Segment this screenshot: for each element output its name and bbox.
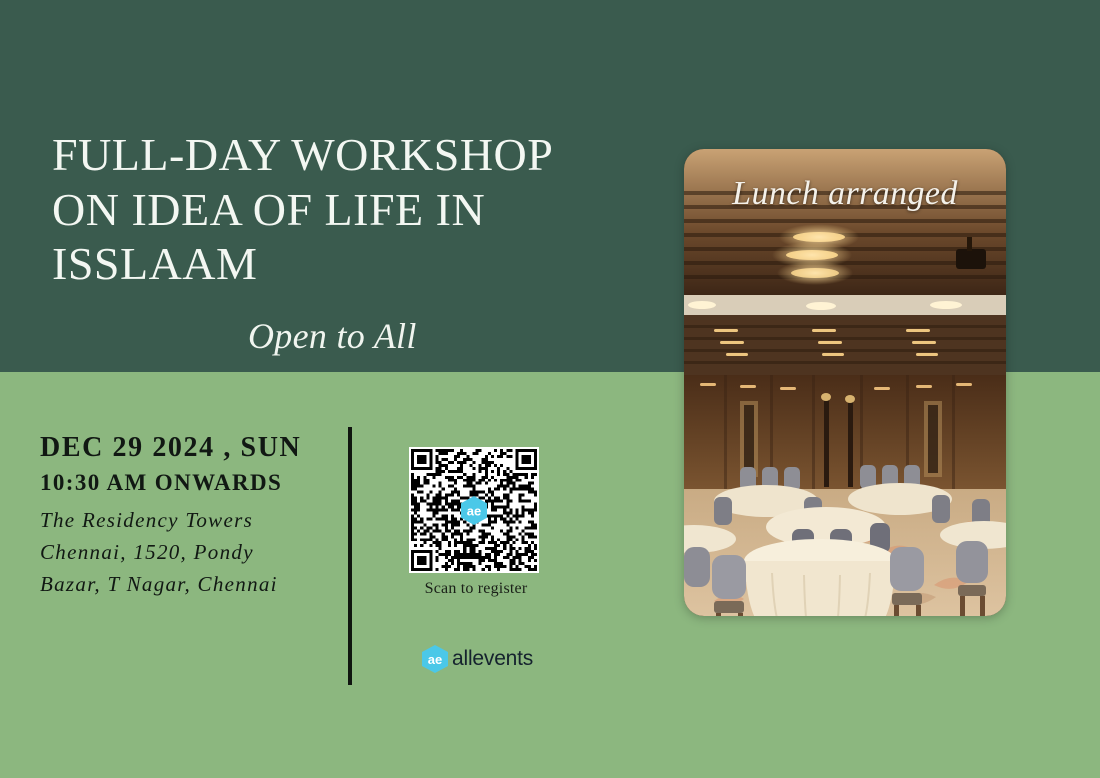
allevents-brand[interactable]: ae allevents <box>422 645 533 673</box>
poster-headline: FULL-DAY WORKSHOP ON IDEA OF LIFE IN ISS… <box>52 128 632 292</box>
venue-line-2: Chennai, 1520, Pondy <box>40 537 340 569</box>
qr-code-block[interactable]: ae Scan to register <box>409 447 543 598</box>
venue-line-3: Bazar, T Nagar, Chennai <box>40 569 340 601</box>
allevents-hexagon-icon: ae <box>461 496 487 525</box>
allevents-hexagon-icon: ae <box>422 645 448 673</box>
headline-line-2: ON IDEA OF LIFE IN <box>52 183 632 238</box>
brand-mark-text: ae <box>428 652 442 667</box>
brand-wordmark: allevents <box>452 647 533 671</box>
qr-logo-text: ae <box>467 504 481 519</box>
event-venue: The Residency Towers Chennai, 1520, Pond… <box>40 505 340 601</box>
headline-line-3: ISSLAAM <box>52 237 632 292</box>
banquet-hall-illustration <box>684 149 1006 616</box>
qr-caption: Scan to register <box>409 580 543 598</box>
event-date: DEC 29 2024 , SUN <box>40 432 340 464</box>
event-time: 10:30 AM ONWARDS <box>40 470 340 496</box>
qr-code-frame[interactable]: ae <box>409 447 539 573</box>
event-poster: FULL-DAY WORKSHOP ON IDEA OF LIFE IN ISS… <box>0 0 1100 778</box>
headline-line-1: FULL-DAY WORKSHOP <box>52 128 632 183</box>
venue-line-1: The Residency Towers <box>40 505 340 537</box>
vertical-divider <box>348 427 352 685</box>
event-details: DEC 29 2024 , SUN 10:30 AM ONWARDS The R… <box>40 432 340 601</box>
banquet-hall-photo: Lunch arranged <box>684 149 1006 616</box>
poster-subtitle: Open to All <box>248 315 417 357</box>
